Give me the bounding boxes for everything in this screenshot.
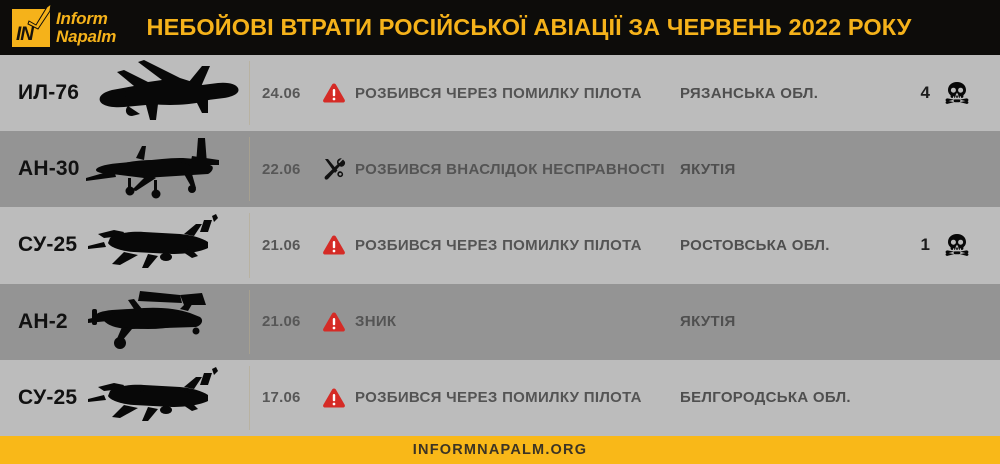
loss-reason: ЗНИК <box>355 313 665 330</box>
row-divider <box>249 137 250 201</box>
row-divider <box>249 213 250 277</box>
logo-swoosh-icon <box>27 4 53 30</box>
loss-location: БЕЛГОРОДСЬКА ОБЛ. <box>680 389 910 406</box>
loss-date: 21.06 <box>262 313 320 330</box>
row-divider <box>249 366 250 430</box>
loss-date: 21.06 <box>262 237 320 254</box>
su25-silhouette-icon <box>80 207 248 283</box>
warning-triangle-icon <box>322 82 352 104</box>
table-row: АН-2 <box>0 284 1000 360</box>
tools-icon <box>322 157 352 181</box>
casualty-count: 1 <box>900 235 930 255</box>
loss-reason: РОЗБИВСЯ ВНАСЛІДОК НЕСПРАВНОСТІ <box>355 161 665 178</box>
warning-triangle-icon <box>322 311 352 333</box>
an30-silhouette-icon <box>80 131 248 207</box>
skull-crossbones-icon <box>944 81 976 105</box>
table-row: ИЛ-76 24.06 РОЗБИ <box>0 55 1000 131</box>
il76-silhouette-icon <box>80 55 248 131</box>
loss-location: РОСТОВСЬКА ОБЛ. <box>680 237 910 254</box>
footer-url[interactable]: INFORMNAPALM.ORG <box>413 442 587 458</box>
skull-crossbones-icon <box>944 233 976 257</box>
loss-reason: РОЗБИВСЯ ЧЕРЕЗ ПОМИЛКУ ПІЛОТА <box>355 85 665 102</box>
casualty-count: 4 <box>900 83 930 103</box>
loss-location: РЯЗАНСЬКА ОБЛ. <box>680 85 910 102</box>
losses-table: ИЛ-76 24.06 РОЗБИ <box>0 55 1000 436</box>
warning-triangle-icon <box>322 234 352 256</box>
loss-reason: РОЗБИВСЯ ЧЕРЕЗ ПОМИЛКУ ПІЛОТА <box>355 389 665 406</box>
logo-line-1: Inform <box>56 10 116 27</box>
an2-silhouette-icon <box>80 284 248 360</box>
row-divider <box>249 61 250 125</box>
row-divider <box>249 290 250 354</box>
loss-location: ЯКУТІЯ <box>680 313 910 330</box>
page-title: НЕБОЙОВІ ВТРАТИ РОСІЙСЬКОЇ АВІАЦІЇ ЗА ЧЕ… <box>0 0 1000 55</box>
warning-triangle-icon <box>322 387 352 409</box>
infographic-root: IN Inform Napalm НЕБОЙОВІ ВТРАТИ РОСІЙСЬ… <box>0 0 1000 464</box>
logo-wordmark: Inform Napalm <box>56 10 116 45</box>
loss-reason: РОЗБИВСЯ ЧЕРЕЗ ПОМИЛКУ ПІЛОТА <box>355 237 665 254</box>
loss-date: 17.06 <box>262 389 320 406</box>
table-row: СУ-25 <box>0 207 1000 283</box>
informnapalm-logo[interactable]: IN Inform Napalm <box>12 9 116 47</box>
table-row: АН-30 <box>0 131 1000 207</box>
logo-line-2: Napalm <box>56 28 116 45</box>
logo-mark-icon: IN <box>12 9 50 47</box>
footer-bar: INFORMNAPALM.ORG <box>0 436 1000 464</box>
su25-silhouette-icon <box>80 360 248 436</box>
loss-location: ЯКУТІЯ <box>680 161 910 178</box>
table-row: СУ-25 <box>0 360 1000 436</box>
header-bar: IN Inform Napalm НЕБОЙОВІ ВТРАТИ РОСІЙСЬ… <box>0 0 1000 55</box>
loss-date: 24.06 <box>262 85 320 102</box>
loss-date: 22.06 <box>262 161 320 178</box>
